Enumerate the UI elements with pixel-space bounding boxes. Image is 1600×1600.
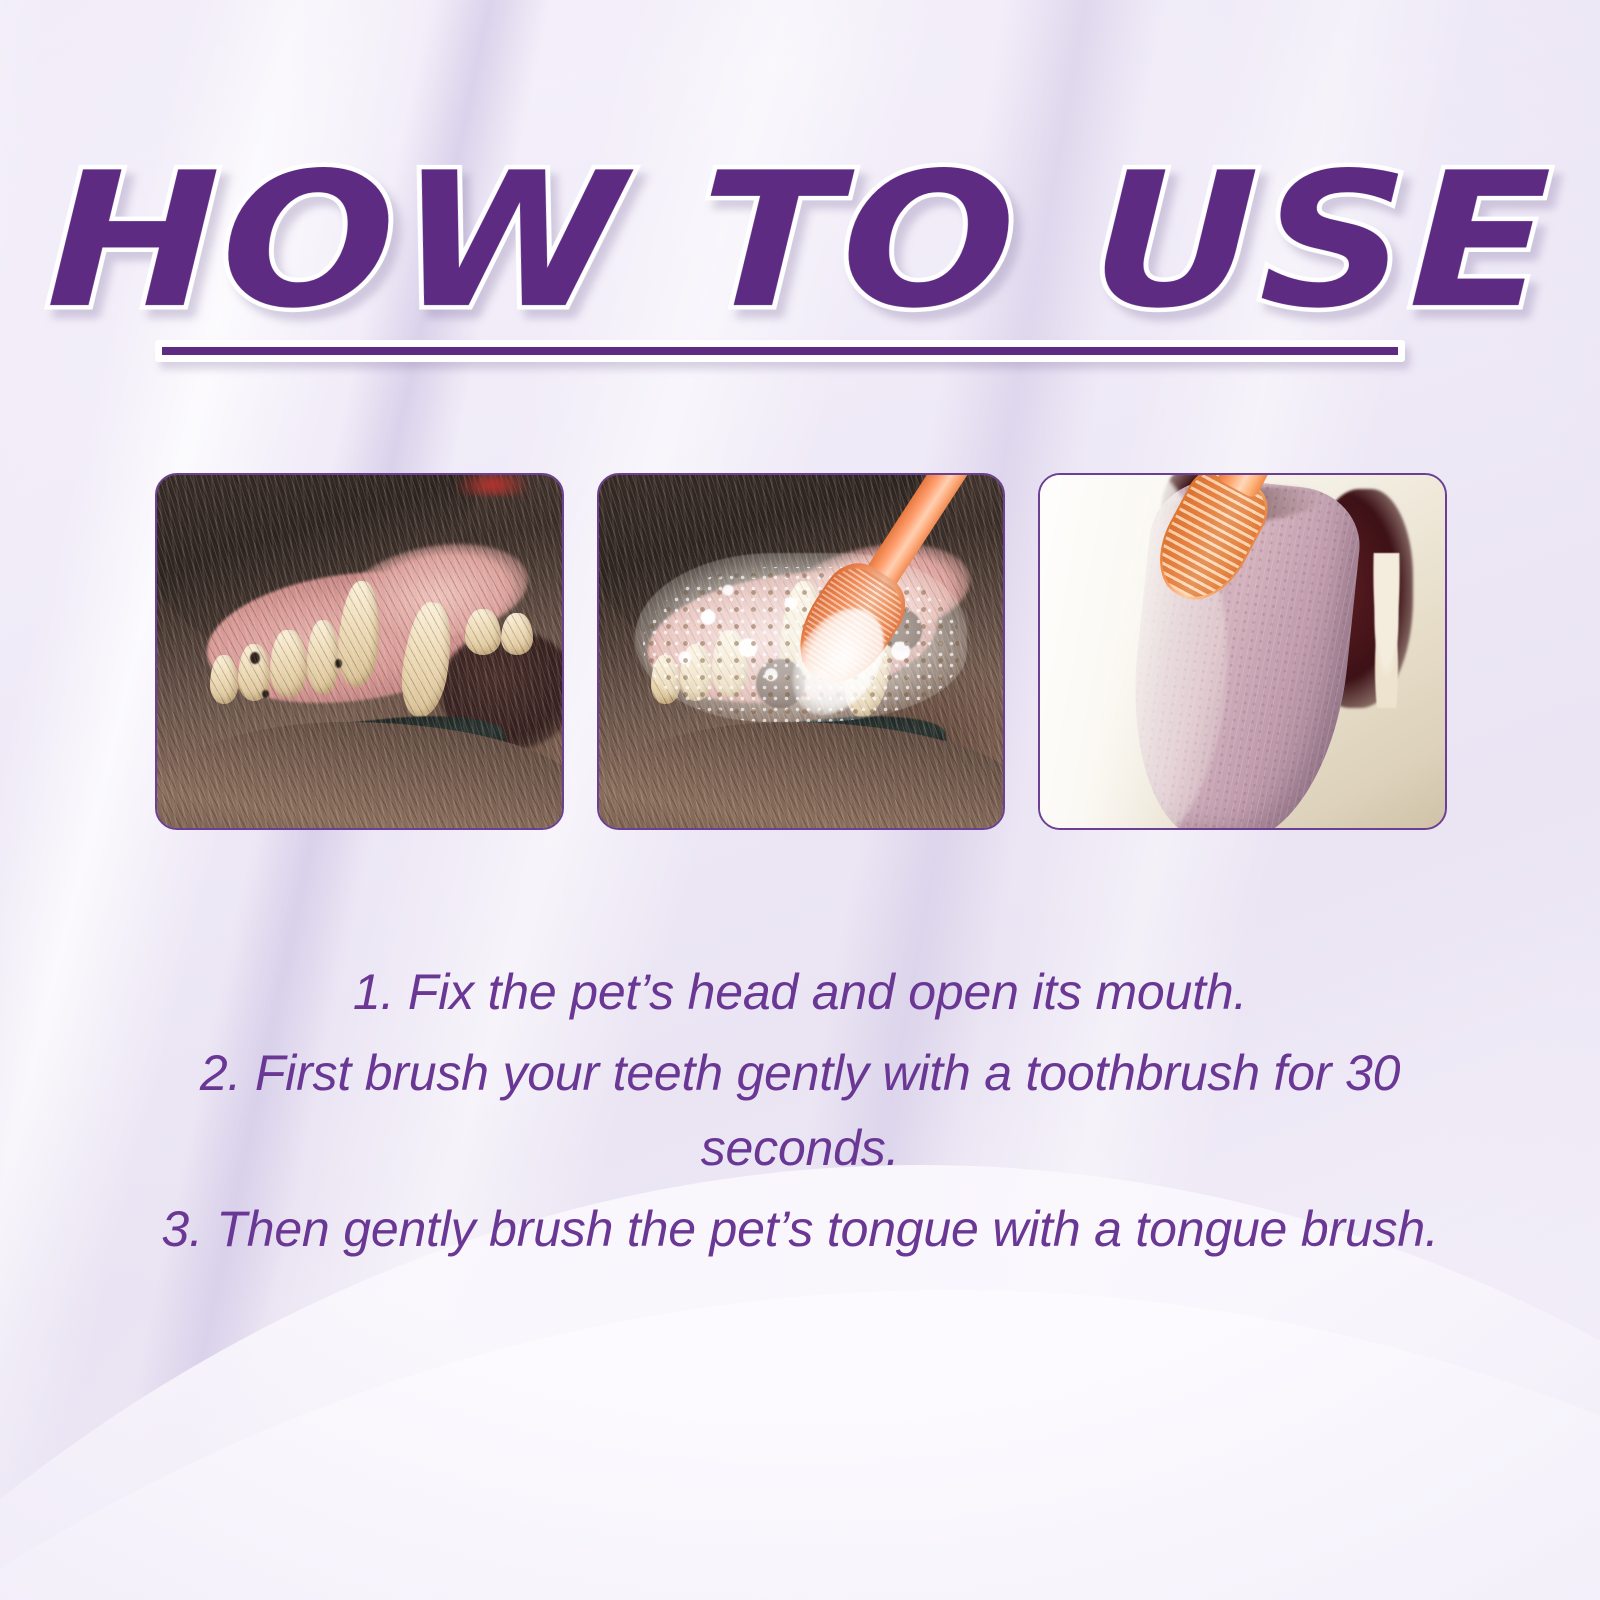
- instruction-steps: 1. Fix the pet’s head and open its mouth…: [120, 955, 1480, 1267]
- photo-panel-row: [155, 473, 1447, 830]
- photo-panel-3-image: [1040, 475, 1445, 828]
- photo-panel-step-1: [155, 473, 564, 830]
- title-underline-rule: [155, 340, 1405, 362]
- page-title: HOW TO USE: [45, 150, 1555, 332]
- how-to-use-poster: HOW TO USE: [0, 0, 1600, 1600]
- photo-panel-2-image: [599, 475, 1004, 828]
- photo-panel-step-2: [597, 473, 1006, 830]
- page-title-container: HOW TO USE: [0, 150, 1600, 332]
- photo-panel-1-image: [157, 475, 562, 828]
- instruction-step-1: 1. Fix the pet’s head and open its mouth…: [120, 955, 1480, 1030]
- title-underline-container: [155, 340, 1405, 362]
- photo-panel-step-3: [1038, 473, 1447, 830]
- background-arc: [0, 1290, 1600, 1600]
- dog-tooth: [1368, 553, 1404, 708]
- instruction-step-3: 3. Then gently brush the pet’s tongue wi…: [120, 1192, 1480, 1267]
- dog-fur-texture: [157, 475, 562, 828]
- dog-tongue-hint: [456, 475, 529, 496]
- instruction-step-2: 2. First brush your teeth gently with a …: [120, 1036, 1480, 1186]
